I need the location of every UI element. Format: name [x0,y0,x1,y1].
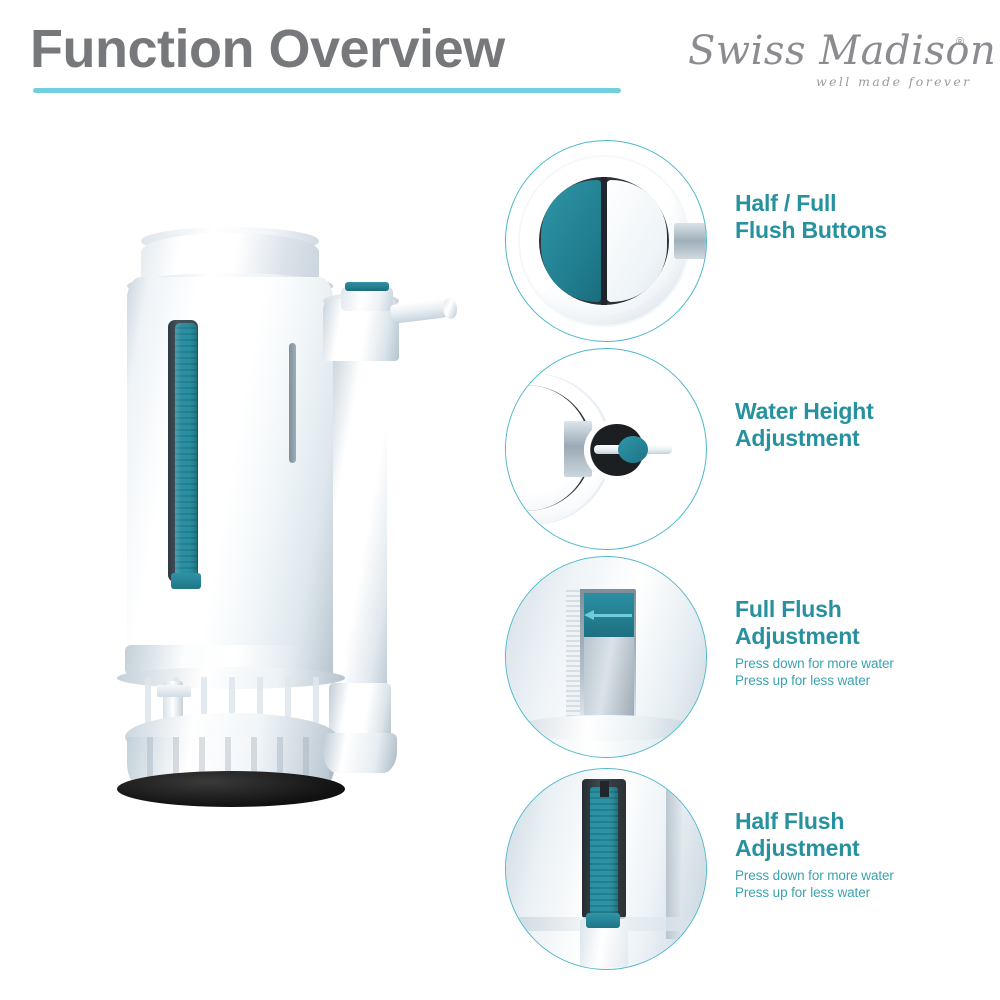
product-photo-flush-valve [95,215,495,835]
detail-bubble-2-inner [506,349,706,549]
callout-4-title-line1: Half Flush [735,808,844,834]
callout-2-text: Water Height Adjustment [735,398,995,451]
callout-4-text: Half Flush Adjustment Press down for mor… [735,808,995,901]
detail-bubble-1-inner [506,141,706,341]
callout-3-subtitle-line1: Press down for more water [735,656,894,671]
detail-bubble-half-flush [505,768,707,970]
detail-bubble-full-flush [505,556,707,758]
callout-2-title: Water Height Adjustment [735,398,995,451]
callout-4-title-line2: Adjustment [735,835,860,861]
half-flush-slider-rack [175,323,197,578]
callout-2-title-line2: Adjustment [735,425,860,451]
flush-button-divider [601,177,607,305]
callout-4-subtitle-line1: Press down for more water [735,868,894,883]
callout-2-title-line1: Water Height [735,398,874,424]
flush-button-stem [674,223,706,259]
fill-valve-teal-cap [345,282,389,291]
water-height-adjustment-knob[interactable] [618,436,648,463]
callout-3-title: Full Flush Adjustment [735,596,995,649]
arrow-head-left-icon [584,610,594,620]
callout-4-subtitle: Press down for more water Press up for l… [735,867,995,901]
base-label-tag [157,685,191,697]
registered-trademark-icon: ® [956,36,964,48]
flush-tower-vent-slot [289,343,296,463]
callout-3-text: Full Flush Adjustment Press down for mor… [735,596,995,689]
detail-bubble-4-inner [506,769,706,969]
base-rubber-gasket [117,771,345,807]
callout-3-title-line2: Adjustment [735,623,860,649]
callout-4-title: Half Flush Adjustment [735,808,995,861]
detail-bubble-water-height [505,348,707,550]
half-flush-adjustment-tab[interactable] [586,913,620,928]
logo-tagline: well made forever [816,74,972,89]
fill-valve-tube [333,345,387,720]
callout-1-text: Half / Full Flush Buttons [735,190,995,243]
full-flush-direction-arrow-icon [584,610,632,620]
half-flush-notch [600,781,609,797]
callout-3-subtitle-line2: Press up for less water [735,673,870,688]
callout-half-full-flush-buttons: Half / Full Flush Buttons [505,140,1000,345]
detail-bubble-dual-flush-buttons [505,140,707,342]
arrow-shaft [592,614,632,617]
full-flush-ledge [516,715,696,741]
title-underline-rule [33,88,621,93]
callout-1-title-line2: Flush Buttons [735,217,887,243]
full-flush-window-cavity [584,637,634,719]
flush-tower-body [127,277,333,677]
logo-wordmark: Swiss Madison [688,30,968,72]
callout-full-flush-adjustment: Full Flush Adjustment Press down for mor… [505,556,1000,761]
callout-half-flush-adjustment: Half Flush Adjustment Press down for mor… [505,768,1000,973]
callout-3-title-line1: Full Flush [735,596,842,622]
callout-1-title-line1: Half / Full [735,190,836,216]
full-flush-rail [566,587,580,723]
callout-3-subtitle: Press down for more water Press up for l… [735,655,995,689]
brand-logo: Swiss Madison ® well made forever [688,30,978,98]
fill-valve-foot [323,733,397,773]
callout-4-subtitle-line2: Press up for less water [735,885,870,900]
half-flush-ribbed-rack[interactable] [590,787,618,915]
page-title: Function Overview [30,22,505,76]
callout-1-title: Half / Full Flush Buttons [735,190,995,243]
callout-water-height-adjustment: Water Height Adjustment [505,348,1000,553]
half-flush-slider-tab [171,573,201,589]
page-header: Function Overview Swiss Madison ® well m… [0,0,1000,110]
detail-bubble-3-inner [506,557,706,757]
